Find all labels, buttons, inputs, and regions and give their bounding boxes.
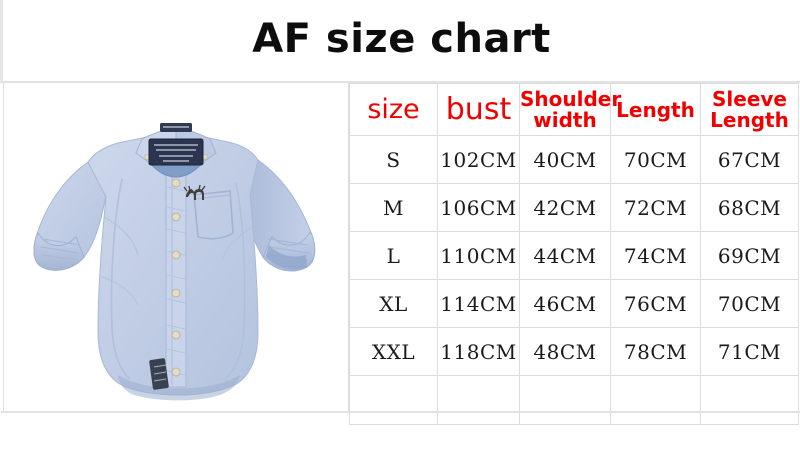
cell-sleeve-length: 67CM <box>701 136 799 184</box>
cell-shoulder-width: 40CM <box>520 136 611 184</box>
table-row-blank <box>350 376 799 425</box>
brand-label <box>149 139 203 165</box>
cell-shoulder-width: 42CM <box>520 184 611 232</box>
table-row: XXL 118CM 48CM 78CM 71CM <box>350 328 799 376</box>
table-row: S 102CM 40CM 70CM 67CM <box>350 136 799 184</box>
product-image-cell <box>4 83 349 411</box>
cell-size: XL <box>350 280 438 328</box>
table-header-row: size bust Shoulder width Length Sleeve L <box>350 84 799 136</box>
header-size-label: size <box>367 94 419 125</box>
cell-bust: 118CM <box>438 328 520 376</box>
size-table: size bust Shoulder width Length Sleeve L <box>349 83 799 425</box>
cell-size: L <box>350 232 438 280</box>
header-sleeve-length: Sleeve Length <box>701 84 799 136</box>
cell-bust: 106CM <box>438 184 520 232</box>
header-bust-label: bust <box>446 92 511 127</box>
header-shoulder-width: Shoulder width <box>520 84 611 136</box>
table-row: L 110CM 44CM 74CM 69CM <box>350 232 799 280</box>
cell-bust: 110CM <box>438 232 520 280</box>
header-shoulder-line1: Shoulder <box>520 89 610 110</box>
cell-length: 78CM <box>611 328 701 376</box>
header-sleeve-line1: Sleeve <box>701 89 798 110</box>
cell-sleeve-length: 70CM <box>701 280 799 328</box>
header-shoulder-line2: width <box>520 110 610 131</box>
cell-shoulder-width: 44CM <box>520 232 611 280</box>
page-title: AF size chart <box>252 19 551 63</box>
cell-shoulder-width: 48CM <box>520 328 611 376</box>
shirt-illustration <box>26 87 326 409</box>
cell-sleeve-length <box>701 376 799 425</box>
cell-bust: 102CM <box>438 136 520 184</box>
title-band: AF size chart <box>0 0 800 83</box>
cell-sleeve-length: 68CM <box>701 184 799 232</box>
cell-shoulder-width: 46CM <box>520 280 611 328</box>
header-length: Length <box>611 84 701 136</box>
cell-shoulder-width <box>520 376 611 425</box>
cell-bust <box>438 376 520 425</box>
cell-size <box>350 376 438 425</box>
chart-content: size bust Shoulder width Length Sleeve L <box>3 83 797 413</box>
cell-length: 76CM <box>611 280 701 328</box>
cell-sleeve-length: 69CM <box>701 232 799 280</box>
header-sleeve-line2: Length <box>701 110 798 131</box>
table-row: M 106CM 42CM 72CM 68CM <box>350 184 799 232</box>
cell-length: 74CM <box>611 232 701 280</box>
cell-length: 72CM <box>611 184 701 232</box>
header-length-label: Length <box>616 98 695 122</box>
cell-bust: 114CM <box>438 280 520 328</box>
size-chart-page: AF size chart <box>0 0 800 466</box>
header-bust: bust <box>438 84 520 136</box>
cell-length: 70CM <box>611 136 701 184</box>
cell-length <box>611 376 701 425</box>
header-size: size <box>350 84 438 136</box>
cell-sleeve-length: 71CM <box>701 328 799 376</box>
cell-size: XXL <box>350 328 438 376</box>
table-row: XL 114CM 46CM 76CM 70CM <box>350 280 799 328</box>
cell-size: M <box>350 184 438 232</box>
cell-size: S <box>350 136 438 184</box>
